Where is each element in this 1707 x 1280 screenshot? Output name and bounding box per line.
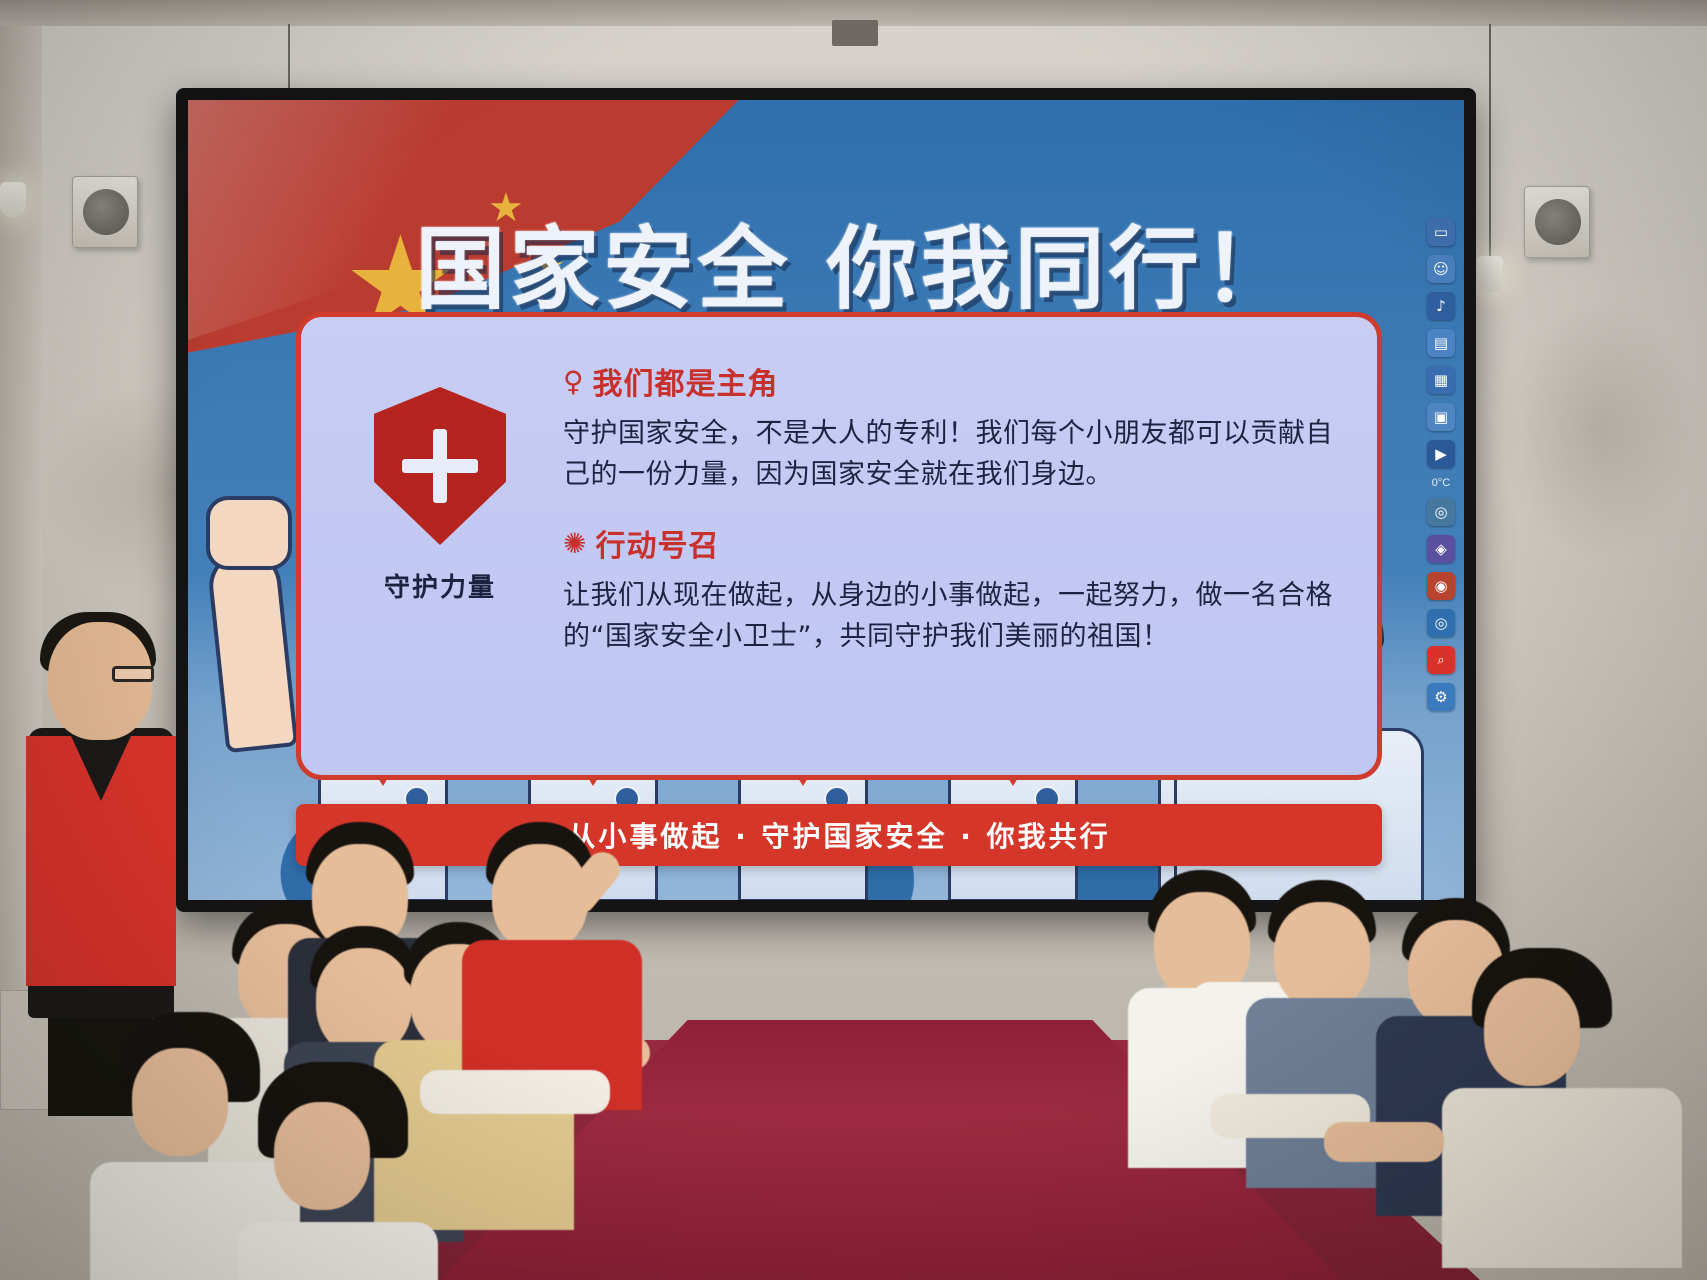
pendant-light-right (1477, 256, 1503, 292)
shield-icon[interactable]: ◈ (1427, 535, 1455, 563)
browser-icon[interactable]: ◉ (1427, 572, 1455, 600)
section-heading: ✺ 行动号召 (563, 521, 1343, 565)
slide-headline: 国家安全 你我同行！ (188, 196, 1464, 326)
user-account-icon[interactable]: ☺ (1427, 255, 1455, 283)
section-heading-text: 行动号召 (595, 521, 719, 565)
left-wall-speaker (72, 176, 138, 248)
sparkle-burst-icon: ✺ (563, 527, 587, 560)
section-heading-text: 我们都是主角 (593, 359, 779, 403)
slide-slogan-bar: 从小事做起 · 守护国家安全 · 你我共行 (296, 804, 1382, 866)
lightbulb-icon: ♀ (563, 365, 585, 398)
led-display-screen[interactable]: ★ ★ ★ ★ ★ (188, 100, 1464, 900)
camera-icon[interactable]: ◎ (1427, 498, 1455, 526)
cartoon-fist (206, 496, 292, 570)
ceiling-mount-box (832, 20, 878, 46)
slide-content-card: 守护力量 ♀ 我们都是主角 守护国家安全，不是大人的专利！我们每个小朋友都可以贡… (296, 312, 1382, 780)
photo-scene: ★ ★ ★ ★ ★ (0, 0, 1707, 1280)
right-wall-speaker (1524, 186, 1590, 258)
search-icon[interactable]: ⌕ (1427, 646, 1455, 674)
section-body: 守护国家安全，不是大人的专利！我们每个小朋友都可以贡献自己的一份力量，因为国家安… (563, 413, 1343, 495)
music-icon[interactable]: ♪ (1427, 292, 1455, 320)
pendant-light-far-left (0, 182, 26, 218)
grid-apps-icon[interactable]: ▦ (1427, 366, 1455, 394)
shield-label: 守护力量 (384, 567, 496, 604)
settings-gear-icon[interactable]: ⚙ (1427, 683, 1455, 711)
document-icon[interactable]: ▤ (1427, 329, 1455, 357)
led-display-frame: ★ ★ ★ ★ ★ (176, 88, 1476, 912)
section-heading: ♀ 我们都是主角 (563, 359, 1343, 403)
shield-plus-icon (374, 387, 506, 545)
section-call-to-action: ✺ 行动号召 让我们从现在做起，从身边的小事做起，一起努力，做一名合格的“国家安… (563, 521, 1343, 657)
student-sleeve (420, 1070, 610, 1114)
gallery-icon[interactable]: ▣ (1427, 403, 1455, 431)
screen-app-dock[interactable]: ▭ ☺ ♪ ▤ ▦ ▣ ▶ 0°C ◎ ◈ ◉ ◎ ⌕ ⚙ (1424, 218, 1458, 711)
student-hand (1324, 1122, 1444, 1162)
shield-block: 守护力量 (335, 345, 545, 604)
wall-stain (1500, 300, 1700, 560)
section-protagonist: ♀ 我们都是主角 守护国家安全，不是大人的专利！我们每个小朋友都可以贡献自己的一… (563, 359, 1343, 495)
target-icon[interactable]: ◎ (1427, 609, 1455, 637)
weather-temp-label: 0°C (1432, 477, 1450, 489)
pendant-cord (1489, 24, 1491, 260)
video-icon[interactable]: ▶ (1427, 440, 1455, 468)
section-body: 让我们从现在做起，从身边的小事做起，一起努力，做一名合格的“国家安全小卫士”，共… (563, 575, 1343, 657)
display-icon[interactable]: ▭ (1427, 218, 1455, 246)
slide-sections: ♀ 我们都是主角 守护国家安全，不是大人的专利！我们每个小朋友都可以贡献自己的一… (545, 345, 1343, 683)
